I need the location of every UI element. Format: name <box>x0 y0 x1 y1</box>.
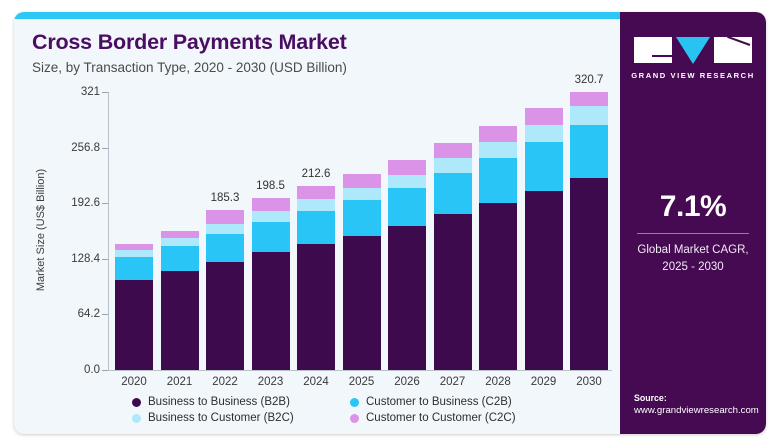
legend-swatch-icon <box>350 398 359 407</box>
bar-segment[interactable] <box>115 280 153 370</box>
bar-segment[interactable] <box>115 250 153 258</box>
bar-segment[interactable] <box>206 224 244 234</box>
bar-segment[interactable] <box>343 236 381 370</box>
y-tick-mark <box>102 203 108 204</box>
y-axis-ticks: 0.064.2128.4192.6256.8321 <box>38 12 100 434</box>
legend-label: Business to Business (B2B) <box>148 396 290 408</box>
y-tick-mark <box>102 259 108 260</box>
bar-segment[interactable] <box>525 142 563 190</box>
bar-value-label: 198.5 <box>236 180 306 192</box>
triangle-v-icon <box>676 37 710 64</box>
legend-label: Customer to Business (C2B) <box>366 396 512 408</box>
chart-legend: Business to Business (B2B)Customer to Bu… <box>132 396 562 424</box>
bar-segment[interactable] <box>388 226 426 370</box>
bar-column[interactable] <box>206 210 244 370</box>
bar-segment[interactable] <box>206 210 244 225</box>
bar-series-group: 185.3198.5212.6320.7 <box>109 92 612 370</box>
bar-segment[interactable] <box>388 160 426 174</box>
bar-segment[interactable] <box>297 244 335 370</box>
bar-column[interactable] <box>388 160 426 370</box>
y-tick-label: 321 <box>38 86 100 98</box>
bar-segment[interactable] <box>525 108 563 125</box>
bar-column[interactable] <box>525 108 563 370</box>
bar-segment[interactable] <box>115 257 153 280</box>
bar-segment[interactable] <box>388 175 426 188</box>
bar-segment[interactable] <box>479 126 517 142</box>
cagr-desc-line-2: 2025 - 2030 <box>620 259 766 276</box>
x-axis-line <box>108 370 612 371</box>
bar-segment[interactable] <box>343 200 381 236</box>
bar-segment[interactable] <box>434 143 472 158</box>
bar-segment[interactable] <box>570 92 608 106</box>
y-tick-label: 192.6 <box>38 197 100 209</box>
bar-segment[interactable] <box>570 178 608 370</box>
legend-item[interactable]: Customer to Business (C2B) <box>350 396 562 408</box>
bar-segment[interactable] <box>434 173 472 215</box>
bar-segment[interactable] <box>525 125 563 142</box>
letter-g-icon <box>634 37 672 63</box>
bar-column[interactable] <box>297 186 335 370</box>
y-tick-mark <box>102 314 108 315</box>
logo-wordmark: GRAND VIEW RESEARCH <box>620 71 766 80</box>
source-block: Source: www.grandviewresearch.com <box>634 393 764 416</box>
legend-swatch-icon <box>132 398 141 407</box>
bar-column[interactable] <box>570 92 608 370</box>
cagr-block: 7.1% Global Market CAGR, 2025 - 2030 <box>620 190 766 275</box>
gvr-logo: GRAND VIEW RESEARCH <box>620 36 766 80</box>
y-tick-label: 0.0 <box>38 364 100 376</box>
bar-value-label: 185.3 <box>190 192 260 204</box>
bar-column[interactable] <box>252 198 290 370</box>
y-tick-label: 256.8 <box>38 142 100 154</box>
source-url: www.grandviewresearch.com <box>634 405 764 416</box>
bar-segment[interactable] <box>161 271 199 370</box>
bar-segment[interactable] <box>479 203 517 370</box>
y-tick-mark <box>102 370 108 371</box>
bar-segment[interactable] <box>434 158 472 173</box>
legend-item[interactable]: Business to Customer (B2C) <box>132 412 344 424</box>
bar-segment[interactable] <box>434 214 472 370</box>
bar-segment[interactable] <box>161 238 199 247</box>
logo-marks <box>620 36 766 64</box>
bar-segment[interactable] <box>297 211 335 244</box>
bar-segment[interactable] <box>479 158 517 203</box>
bar-value-label: 212.6 <box>281 168 351 180</box>
legend-item[interactable]: Customer to Customer (C2C) <box>350 412 562 424</box>
chart-card: Cross Border Payments Market Size, by Tr… <box>14 12 766 434</box>
brand-panel: GRAND VIEW RESEARCH 7.1% Global Market C… <box>620 12 766 434</box>
bar-segment[interactable] <box>525 191 563 370</box>
y-tick-mark <box>102 92 108 93</box>
y-tick-mark <box>102 148 108 149</box>
bar-segment[interactable] <box>206 262 244 370</box>
bar-segment[interactable] <box>297 199 335 211</box>
cagr-description: Global Market CAGR, 2025 - 2030 <box>620 242 766 275</box>
bar-column[interactable] <box>343 174 381 370</box>
bar-segment[interactable] <box>161 246 199 271</box>
bar-column[interactable] <box>479 126 517 370</box>
legend-swatch-icon <box>132 414 141 423</box>
bar-segment[interactable] <box>252 211 290 222</box>
legend-label: Customer to Customer (C2C) <box>366 412 516 424</box>
bar-segment[interactable] <box>479 142 517 158</box>
letter-r-icon <box>714 37 752 63</box>
legend-item[interactable]: Business to Business (B2B) <box>132 396 344 408</box>
bar-segment[interactable] <box>252 222 290 252</box>
cagr-value: 7.1% <box>620 190 766 224</box>
bar-segment[interactable] <box>570 125 608 178</box>
source-label: Source: <box>634 393 764 403</box>
bar-segment[interactable] <box>252 198 290 211</box>
x-tick-label: 2030 <box>559 376 619 388</box>
bar-column[interactable] <box>161 231 199 370</box>
cagr-desc-line-1: Global Market CAGR, <box>620 242 766 259</box>
legend-swatch-icon <box>350 414 359 423</box>
bar-segment[interactable] <box>388 188 426 226</box>
bar-segment[interactable] <box>343 188 381 201</box>
bar-column[interactable] <box>115 244 153 370</box>
y-tick-label: 64.2 <box>38 308 100 320</box>
plot-area: Market Size (US$ Billion) 0.064.2128.419… <box>14 12 620 434</box>
bar-segment[interactable] <box>252 252 290 370</box>
y-tick-label: 128.4 <box>38 253 100 265</box>
cagr-divider <box>637 233 749 234</box>
bar-column[interactable] <box>434 143 472 370</box>
bar-segment[interactable] <box>570 106 608 125</box>
screenshot-root: Cross Border Payments Market Size, by Tr… <box>0 0 780 446</box>
bar-segment[interactable] <box>297 186 335 199</box>
bar-segment[interactable] <box>206 234 244 262</box>
bar-segment[interactable] <box>343 174 381 187</box>
legend-label: Business to Customer (B2C) <box>148 412 294 424</box>
bar-value-label: 320.7 <box>554 74 624 86</box>
